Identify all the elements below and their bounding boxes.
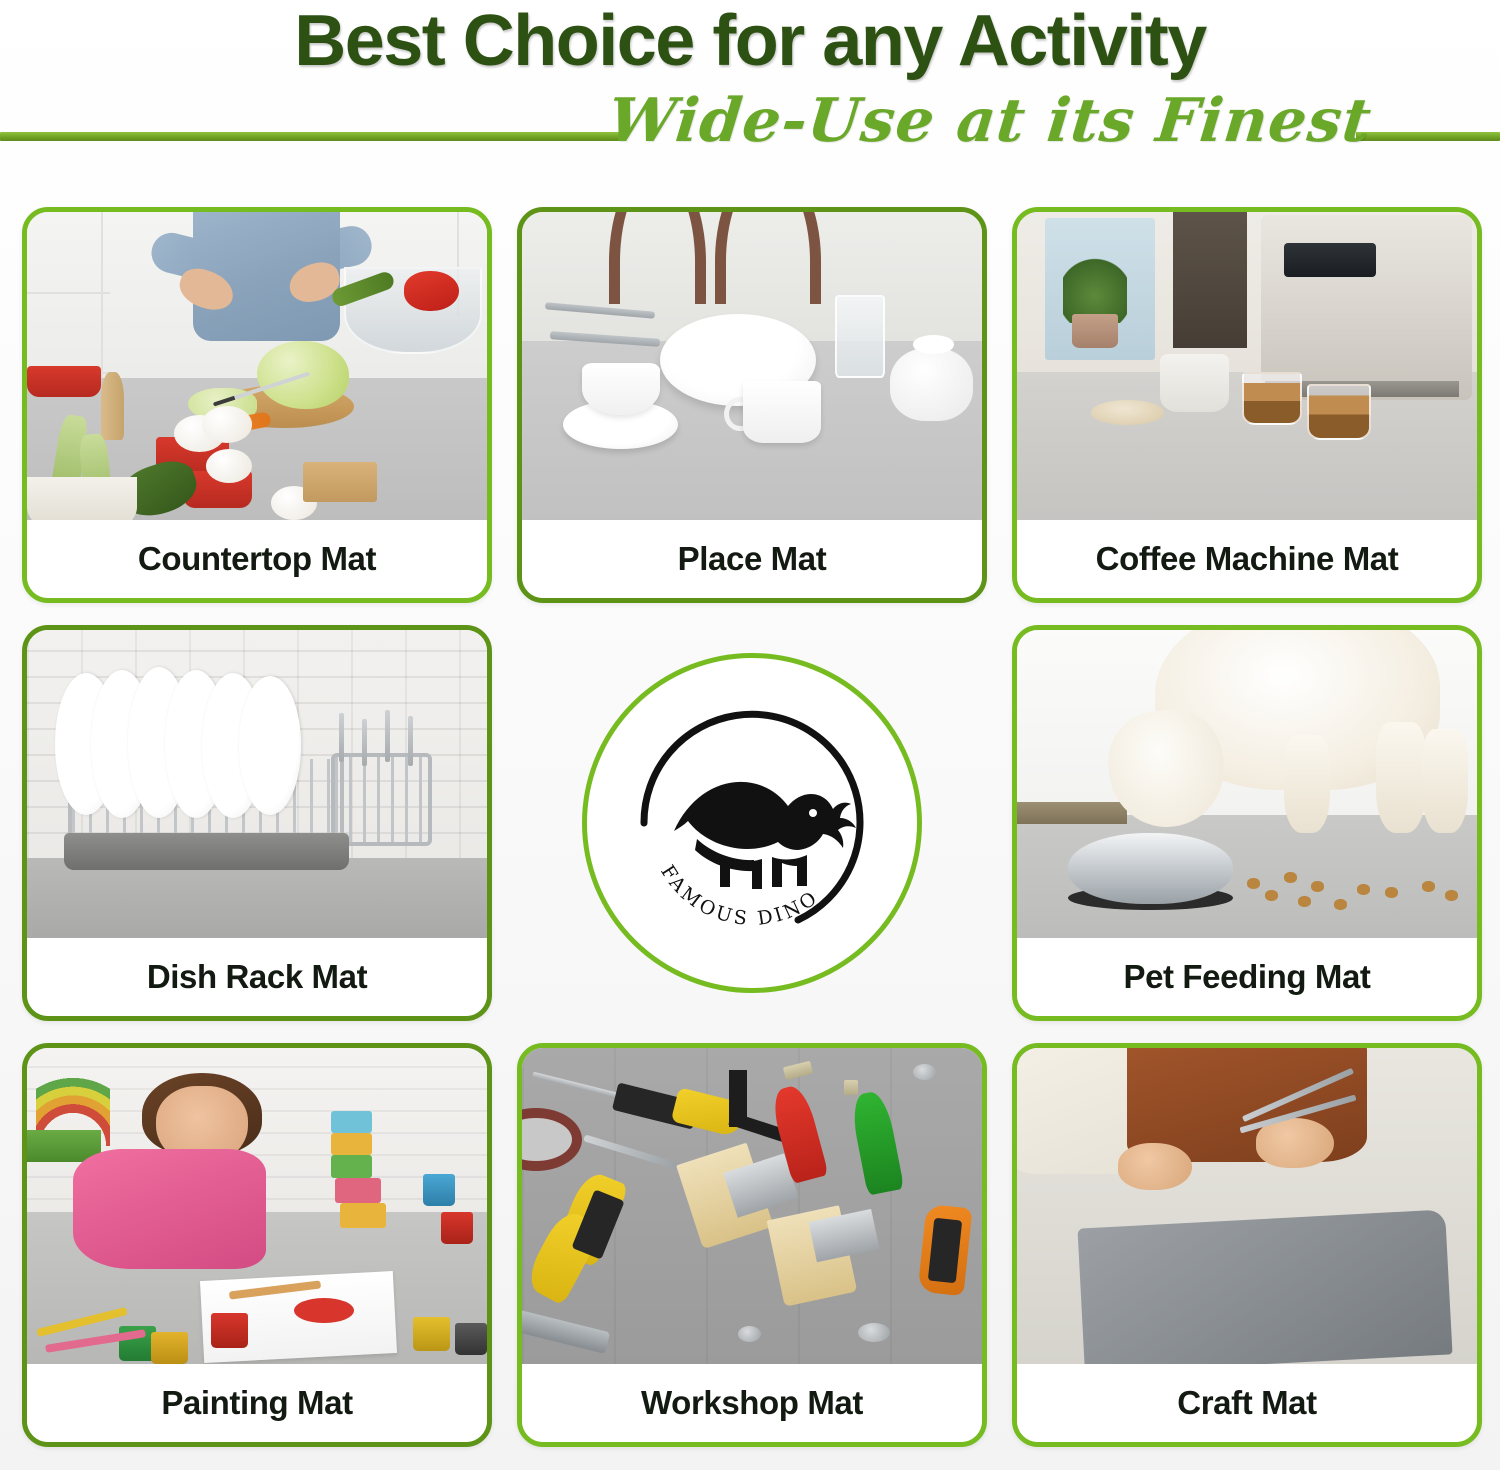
card-label: Coffee Machine Mat — [1017, 520, 1477, 598]
card-coffee-machine-mat[interactable]: Coffee Machine Mat — [1012, 207, 1482, 603]
card-label: Workshop Mat — [522, 1364, 982, 1442]
use-case-grid: Countertop Mat — [22, 207, 1482, 1447]
card-painting-mat[interactable]: Painting Mat — [22, 1043, 492, 1447]
card-craft-mat[interactable]: Craft Mat — [1012, 1043, 1482, 1447]
brand-logo: FAMOUS DINO — [517, 625, 987, 1021]
photo-painting-mat — [27, 1048, 487, 1364]
card-label: Dish Rack Mat — [27, 938, 487, 1016]
photo-pet-feeding-mat — [1017, 630, 1477, 938]
card-countertop-mat[interactable]: Countertop Mat — [22, 207, 492, 603]
card-label: Pet Feeding Mat — [1017, 938, 1477, 1016]
triceratops-dinosaur-logo: FAMOUS DINO — [602, 673, 902, 973]
photo-workshop-mat — [522, 1048, 982, 1364]
subtitle-row: Wide-Use at its Finest — [0, 92, 1500, 182]
card-label: Painting Mat — [27, 1364, 487, 1442]
card-label: Craft Mat — [1017, 1364, 1477, 1442]
card-label: Countertop Mat — [27, 520, 487, 598]
card-workshop-mat[interactable]: Workshop Mat — [517, 1043, 987, 1447]
photo-craft-mat — [1017, 1048, 1477, 1364]
photo-coffee-machine-mat — [1017, 212, 1477, 520]
card-place-mat[interactable]: Place Mat — [517, 207, 987, 603]
photo-countertop-mat — [27, 212, 487, 520]
logo-circle: FAMOUS DINO — [582, 653, 922, 993]
card-pet-feeding-mat[interactable]: Pet Feeding Mat — [1012, 625, 1482, 1021]
infographic-page: Best Choice for any Activity Wide-Use at… — [0, 0, 1500, 1470]
page-subtitle: Wide-Use at its Finest — [596, 86, 1383, 156]
photo-place-mat — [522, 212, 982, 520]
header: Best Choice for any Activity Wide-Use at… — [0, 0, 1500, 190]
card-label: Place Mat — [522, 520, 982, 598]
card-dish-rack-mat[interactable]: Dish Rack Mat — [22, 625, 492, 1021]
photo-dish-rack-mat — [27, 630, 487, 938]
divider-left — [0, 132, 622, 141]
page-title: Best Choice for any Activity — [0, 4, 1500, 80]
